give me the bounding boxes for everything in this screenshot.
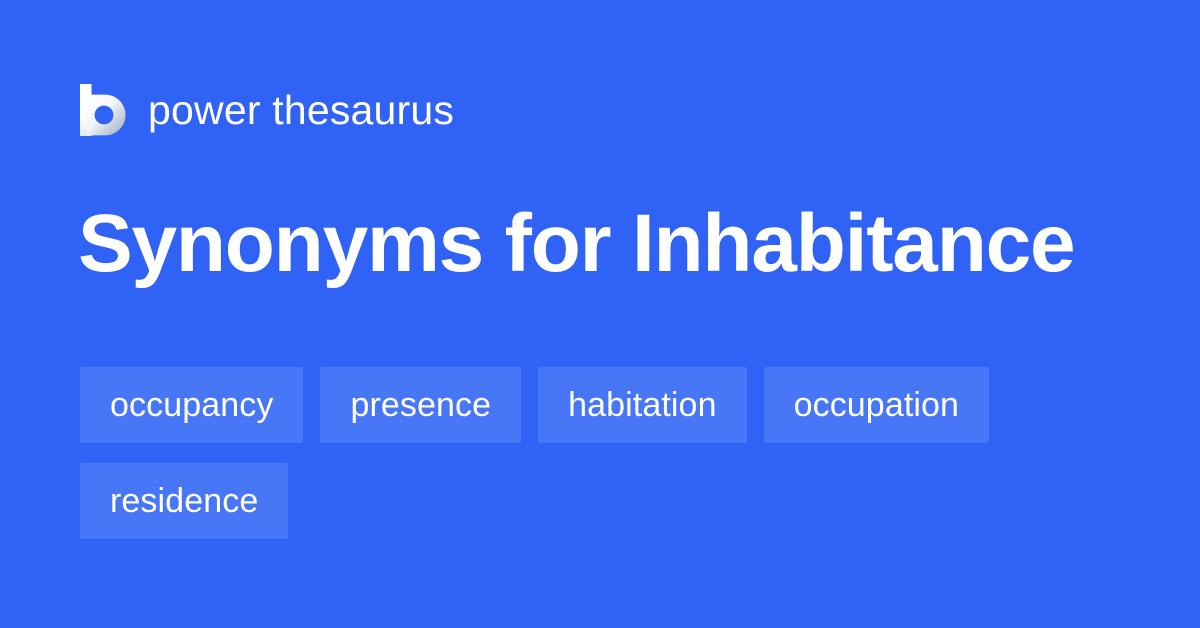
page-title: Synonyms for Inhabitance bbox=[78, 196, 1128, 292]
synonym-chip[interactable]: residence bbox=[80, 463, 288, 539]
share-card: power thesaurus Synonyms for Inhabitance… bbox=[0, 0, 1200, 628]
synonym-chip[interactable]: habitation bbox=[538, 367, 746, 443]
synonym-chip[interactable]: presence bbox=[320, 367, 521, 443]
synonym-chip[interactable]: occupancy bbox=[80, 367, 303, 443]
power-thesaurus-b-logo-icon bbox=[80, 84, 126, 136]
brand-name: power thesaurus bbox=[148, 84, 454, 136]
brand-logo[interactable]: power thesaurus bbox=[80, 82, 454, 138]
synonym-chip-list: occupancy presence habitation occupation… bbox=[80, 367, 1130, 539]
synonym-chip[interactable]: occupation bbox=[764, 367, 989, 443]
